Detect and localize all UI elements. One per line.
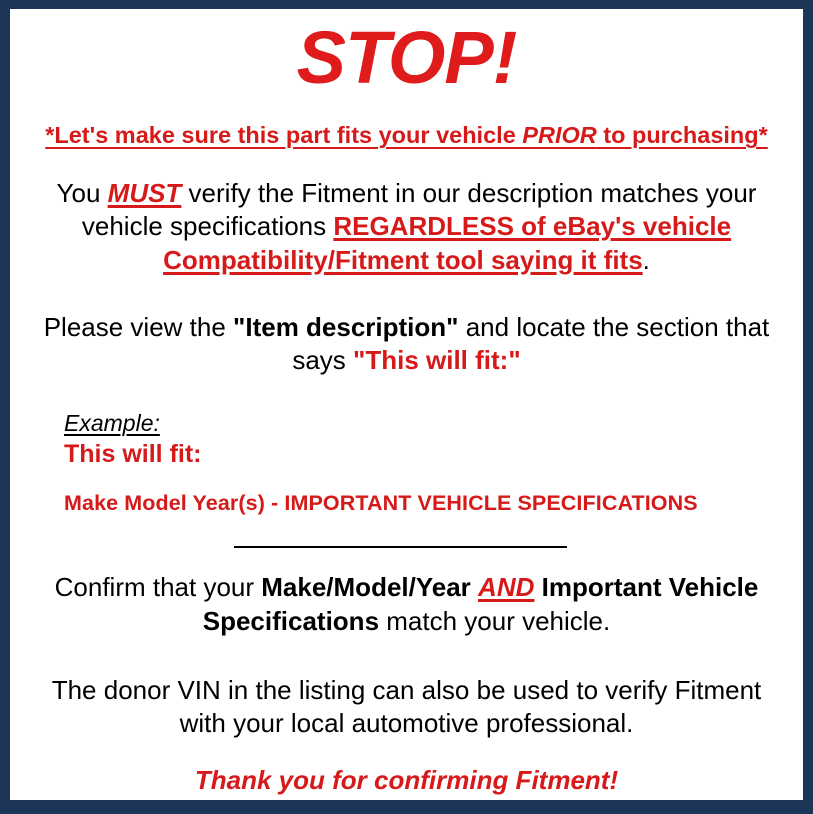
- confirm-seg-2: [471, 572, 478, 602]
- item-description-emphasis: "Item description": [233, 312, 458, 342]
- confirm-seg-3: [534, 572, 541, 602]
- view-seg-1: Please view the: [44, 312, 233, 342]
- must-emphasis: MUST: [108, 178, 182, 208]
- and-emphasis: AND: [478, 572, 534, 602]
- subtitle-warning: *Let's make sure this part fits your veh…: [17, 121, 796, 149]
- example-block: Example: This will fit: Make Model Year(…: [17, 410, 796, 517]
- page-title: STOP!: [17, 21, 796, 95]
- must-seg-3: .: [643, 245, 650, 275]
- notice-inner-content: STOP! *Let's make sure this part fits yo…: [10, 21, 803, 812]
- fitment-notice-card: STOP! *Let's make sure this part fits yo…: [0, 0, 813, 814]
- thank-you-line: Thank you for confirming Fitment!: [17, 765, 796, 796]
- example-will-fit-heading: This will fit:: [64, 439, 796, 469]
- paragraph-item-description: Please view the "Item description" and l…: [17, 311, 796, 378]
- paragraph-donor-vin: The donor VIN in the listing can also be…: [17, 674, 796, 741]
- subtitle-emphasis-prior: PRIOR: [522, 122, 596, 148]
- example-spec-line: Make Model Year(s) - IMPORTANT VEHICLE S…: [64, 491, 796, 517]
- paragraph-confirm-match: Confirm that your Make/Model/Year AND Im…: [17, 571, 796, 638]
- example-label: Example:: [64, 410, 160, 437]
- this-will-fit-emphasis: "This will fit:": [353, 345, 521, 375]
- confirm-seg-4: match your vehicle.: [379, 606, 610, 636]
- horizontal-divider: [234, 546, 567, 548]
- paragraph-must-verify: You MUST verify the Fitment in our descr…: [17, 177, 796, 277]
- confirm-seg-1: Confirm that your: [55, 572, 262, 602]
- subtitle-prefix: *Let's make sure this part fits your veh…: [45, 122, 522, 148]
- make-model-year-emphasis: Make/Model/Year: [261, 572, 471, 602]
- subtitle-suffix: to purchasing*: [597, 122, 768, 148]
- divider-container: [17, 537, 796, 555]
- must-seg-1: You: [57, 178, 108, 208]
- example-label-row: Example:: [64, 410, 796, 437]
